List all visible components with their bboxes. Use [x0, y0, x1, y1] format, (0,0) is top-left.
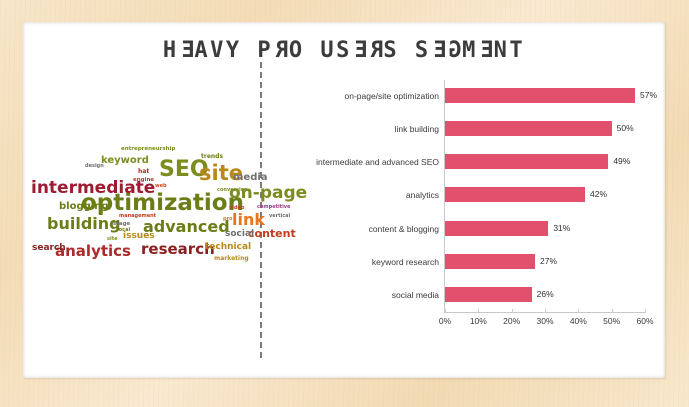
- seo-keyword-word-cloud: optimizationintermediateSEOsiteon-pagead…: [33, 122, 258, 262]
- x-axis-tick: [512, 309, 513, 313]
- word-cloud-term: building: [47, 216, 121, 232]
- word-cloud-term: social: [225, 230, 254, 239]
- bar-row: content & blogging31%: [273, 213, 665, 246]
- word-cloud-term: technical: [205, 243, 251, 252]
- bar: [445, 121, 612, 136]
- word-cloud-term: keyword: [101, 156, 149, 166]
- slide-card: HEAVY PRO USERS SEGMENT optimizationinte…: [23, 22, 665, 378]
- x-axis-tick-label: 10%: [465, 316, 491, 326]
- bar-value-label: 42%: [590, 189, 607, 199]
- bar: [445, 154, 608, 169]
- x-axis-tick: [578, 309, 579, 313]
- word-cloud-term: advanced: [143, 219, 230, 235]
- word-cloud-term: conversion: [217, 188, 248, 193]
- x-axis-tick-label: 60%: [632, 316, 658, 326]
- bar-value-label: 49%: [613, 156, 630, 166]
- x-axis-tick-label: 50%: [599, 316, 625, 326]
- bar-row: on-page/site optimization57%: [273, 80, 665, 113]
- word-cloud-term: engine: [133, 178, 154, 184]
- word-cloud-term: blogging: [59, 202, 108, 212]
- page-title: HEAVY PRO USERS SEGMENT: [23, 38, 665, 63]
- x-axis-tick-label: 40%: [565, 316, 591, 326]
- bar-value-label: 27%: [540, 256, 557, 266]
- word-cloud-term: management: [119, 214, 156, 219]
- bar-row: analytics42%: [273, 179, 665, 212]
- word-cloud-term: entrepreneurship: [121, 147, 175, 153]
- bar-value-label: 50%: [617, 123, 634, 133]
- bar-row: link building50%: [273, 113, 665, 146]
- bar-category-label: content & blogging: [273, 224, 439, 234]
- x-axis-tick: [645, 309, 646, 313]
- x-axis-tick-label: 20%: [499, 316, 525, 326]
- bar-value-label: 57%: [640, 90, 657, 100]
- bar-category-label: social media: [273, 290, 439, 300]
- x-axis-tick: [545, 309, 546, 313]
- bar: [445, 88, 635, 103]
- bar-row: keyword research27%: [273, 246, 665, 279]
- x-axis-tick-label: 0%: [432, 316, 458, 326]
- word-cloud-term: design: [85, 164, 104, 169]
- photo-frame: HEAVY PRO USERS SEGMENT optimizationinte…: [0, 0, 689, 407]
- x-axis-tick: [445, 309, 446, 313]
- bar-row: social media26%: [273, 279, 665, 312]
- word-cloud-term: site: [107, 237, 117, 242]
- bar-category-label: analytics: [273, 190, 439, 200]
- word-cloud-term: analytics: [55, 244, 131, 259]
- bar-category-label: on-page/site optimization: [273, 91, 439, 101]
- bar: [445, 187, 585, 202]
- bar: [445, 287, 532, 302]
- bar-category-label: link building: [273, 124, 439, 134]
- bar: [445, 254, 535, 269]
- word-cloud-term: hat: [138, 169, 149, 175]
- bar-category-label: intermediate and advanced SEO: [273, 157, 439, 167]
- bar-row: intermediate and advanced SEO49%: [273, 146, 665, 179]
- word-cloud-term: local: [117, 228, 130, 233]
- horizontal-bar-chart: on-page/site optimization57%link buildin…: [273, 80, 665, 352]
- x-axis-tick-label: 30%: [532, 316, 558, 326]
- word-cloud-term: link: [232, 212, 265, 228]
- x-axis-tick: [612, 309, 613, 313]
- bar-value-label: 31%: [553, 223, 570, 233]
- bar-category-label: keyword research: [273, 257, 439, 267]
- word-cloud-term: search: [32, 244, 66, 253]
- word-cloud-term: research: [141, 242, 215, 257]
- bar: [445, 221, 548, 236]
- x-axis-tick: [478, 309, 479, 313]
- word-cloud-term: video: [229, 206, 244, 211]
- word-cloud-term: trends: [201, 154, 223, 160]
- word-cloud-term: pro: [223, 217, 232, 222]
- word-cloud-term: issues: [123, 232, 155, 241]
- word-cloud-term: marketing: [214, 256, 249, 262]
- word-cloud-term: media: [233, 173, 268, 183]
- word-cloud-term: web: [155, 184, 167, 189]
- bar-value-label: 26%: [537, 289, 554, 299]
